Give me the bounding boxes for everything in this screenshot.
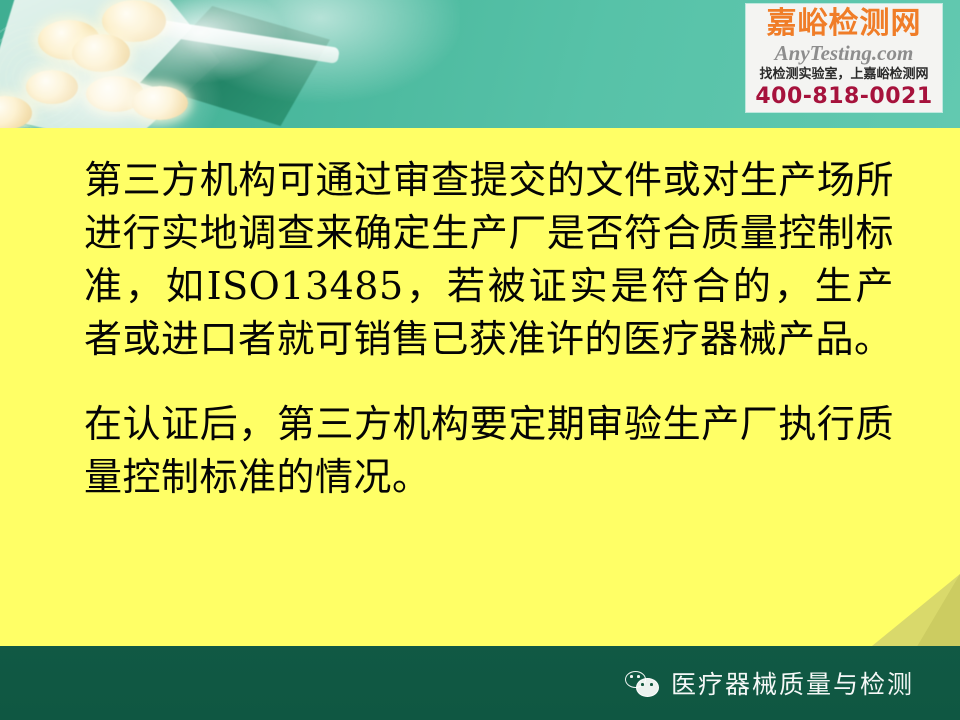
watermark-brand-cn: 嘉峪检测网 (767, 7, 922, 41)
paragraph-2: 在认证后，第三方机构要定期审验生产厂执行质量控制标准的情况。 (84, 398, 894, 504)
watermark-phone: 400-818-0021 (755, 84, 932, 109)
surgical-lamp-photo: aiphimeux (0, 0, 460, 128)
photo-glow-haze (0, 0, 460, 128)
content-body: 第三方机构可通过审查提交的文件或对生产场所进行实地调查来确定生产厂是否符合质量控… (84, 154, 894, 504)
paragraph-1: 第三方机构可通过审查提交的文件或对生产场所进行实地调查来确定生产厂是否符合质量控… (84, 154, 894, 366)
slide-canvas: aiphimeux 嘉峪检测网 AnyTesting.com 找检测实验室，上嘉… (0, 0, 960, 720)
wechat-account-name: 医疗器械质量与检测 (671, 665, 914, 701)
wechat-dot-2 (637, 675, 640, 678)
wechat-dot-4 (650, 683, 653, 686)
watermark-tagline: 找检测实验室，上嘉峪检测网 (759, 65, 928, 84)
wechat-bubble-front (636, 678, 659, 697)
wechat-dot-3 (641, 683, 644, 686)
footer-bar: 医疗器械质量与检测 (0, 646, 960, 720)
header-banner: aiphimeux 嘉峪检测网 AnyTesting.com 找检测实验室，上嘉… (0, 0, 960, 128)
wechat-icon (625, 670, 659, 696)
watermark-logo: 嘉峪检测网 AnyTesting.com 找检测实验室，上嘉峪检测网 400-8… (746, 4, 942, 112)
content-panel: 第三方机构可通过审查提交的文件或对生产场所进行实地调查来确定生产厂是否符合质量控… (0, 128, 960, 646)
watermark-brand-en: AnyTesting.com (775, 41, 914, 65)
wechat-dot-1 (630, 675, 633, 678)
